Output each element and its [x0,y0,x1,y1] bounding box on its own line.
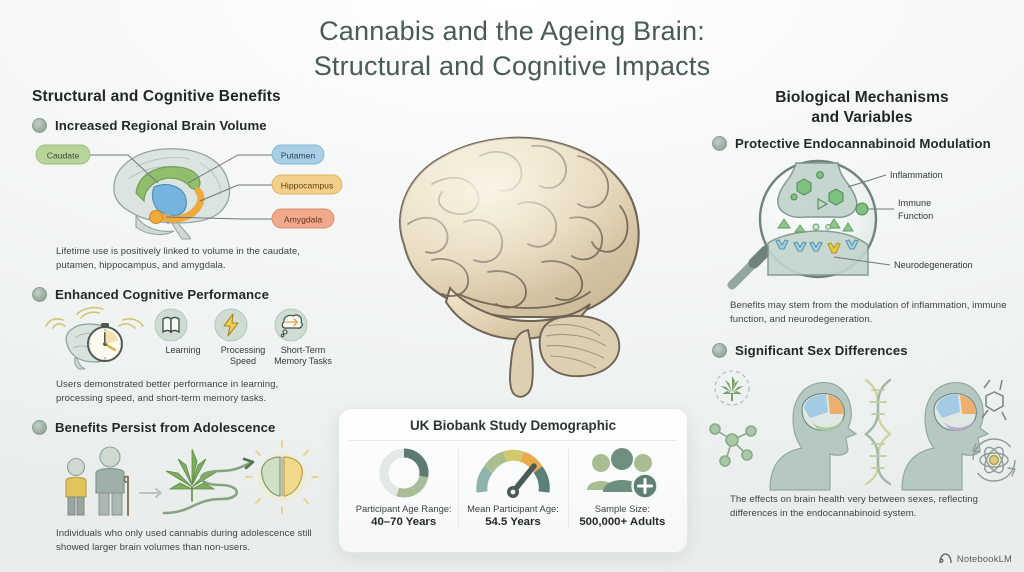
people-group-icon [570,445,675,501]
child-figure [66,458,86,515]
stat-value: 54.5 Years [460,515,565,530]
central-brain-illustration [372,112,658,402]
gauge-icon [460,445,565,501]
atom-cycle-icon [973,439,1015,481]
footer-brand-label: NotebookLM [957,553,1012,564]
callout-immune-function-line1: Immune [898,198,931,208]
brain-stopwatch-illustration [42,308,152,370]
chemical-structure-icon [982,380,1006,420]
callout-inflammation: Inflammation [890,170,943,180]
stat-mean-participant-age: Mean Participant Age: 54.5 Years [458,445,567,530]
region-label-putamen: Putamen [272,145,324,164]
stat-participant-age-range: Participant Age Range: 40–70 Years [349,445,458,530]
donut-chart-icon [351,445,456,501]
stat-key: Mean Participant Age: [460,503,565,515]
region-label-amygdala: Amygdala [272,209,334,228]
cognitive-icon-row: Learning Processing Speed [42,308,332,370]
cognitive-icon-learning: Learning [154,308,212,356]
region-label-hippocampus: Hippocampus [272,175,342,194]
region-label-text: Amygdala [284,215,322,225]
callout-immune-function-line2: Function [898,211,933,221]
older-adult-figure [96,447,128,515]
notebooklm-logo-icon [939,553,952,564]
male-head-silhouette [770,383,856,490]
section-caption: Lifetime use is positively linked to vol… [56,245,318,273]
left-column: Structural and Cognitive Benefits Increa… [32,88,332,568]
section-label: Benefits Persist from Adolescence [55,420,275,435]
bullet-row: Protective Endocannabinoid Modulation [712,136,1012,151]
section-caption: Benefits may stem from the modulation of… [730,299,1008,327]
female-head-silhouette [902,383,988,490]
region-label-text: Caudate [47,151,80,161]
cannabis-leaf-icon [166,449,218,501]
synapse-magnifier-diagram: Inflammation Immune Function Neurodegene… [708,157,1012,297]
section-significant-sex-differences: Significant Sex Differences [712,343,1012,521]
page-title: Cannabis and the Ageing Brain: Structura… [0,14,1024,83]
cognitive-icon-caption: Short-Term Memory Tasks [274,345,332,367]
section-increased-regional-brain-volume: Increased Regional Brain Volume [32,118,332,273]
section-protective-endocannabinoid-modulation: Protective Endocannabinoid Modulation [712,136,1012,327]
stat-sample-size: Sample Size: 500,000+ Adults [568,445,677,530]
sex-differences-illustration [706,364,1012,490]
page-title-line2: Structural and Cognitive Impacts [0,49,1024,84]
section-caption: The effects on brain health very between… [730,493,1008,521]
region-label-text: Putamen [281,151,316,161]
section-enhanced-cognitive-performance: Enhanced Cognitive Performance [32,287,332,406]
infographic-canvas: Cannabis and the Ageing Brain: Structura… [0,0,1024,572]
left-column-heading: Structural and Cognitive Benefits [32,88,332,106]
cognitive-icon-caption: Processing Speed [214,345,272,367]
section-label: Significant Sex Differences [735,343,908,358]
callout-neurodegeneration: Neurodegeneration [894,260,973,270]
right-column-heading: Biological Mechanisms and Variables [712,88,1012,128]
bullet-row: Benefits Persist from Adolescence [32,420,332,435]
section-benefits-persist-from-adolescence: Benefits Persist from Adolescence [32,420,332,555]
section-caption: Users demonstrated better performance in… [56,378,318,406]
dna-helix-icon [866,380,890,484]
stat-card-stats: Participant Age Range: 40–70 Years [349,445,677,530]
stat-card: UK Biobank Study Demographic Participant… [338,408,688,553]
stat-card-title: UK Biobank Study Demographic [349,418,677,441]
bullet-dot-icon [32,287,47,302]
stat-key: Participant Age Range: [351,503,456,515]
stat-value: 40–70 Years [351,515,456,530]
bullet-dot-icon [712,136,727,151]
glowing-brain-icon [246,441,318,513]
bullet-row: Significant Sex Differences [712,343,1012,358]
section-label: Increased Regional Brain Volume [55,118,267,133]
right-column: Biological Mechanisms and Variables Prot… [712,88,1012,535]
right-column-heading-line2: and Variables [811,109,912,126]
bullet-row: Increased Regional Brain Volume [32,118,332,133]
region-label-caudate: Caudate [36,145,90,164]
section-caption: Individuals who only used cannabis durin… [56,527,318,555]
bullet-dot-icon [712,343,727,358]
molecule-icon [710,424,756,466]
bullet-dot-icon [32,118,47,133]
cannabis-leaf-badge-icon [715,371,749,405]
adolescence-to-adult-illustration [44,441,332,521]
bullet-row: Enhanced Cognitive Performance [32,287,332,302]
cognitive-icon-caption: Learning [154,345,212,356]
bullet-dot-icon [32,420,47,435]
subcortical-brain-diagram: Caudate Putamen Hippocampus Amygdala [32,139,332,239]
page-title-line1: Cannabis and the Ageing Brain: [319,16,705,46]
section-label: Enhanced Cognitive Performance [55,287,269,302]
stat-key: Sample Size: [570,503,675,515]
section-label: Protective Endocannabinoid Modulation [735,136,991,151]
footer-brand: NotebookLM [939,553,1012,564]
cognitive-icon-processing-speed: Processing Speed [214,308,272,367]
cognitive-icon-short-term-memory: Short-Term Memory Tasks [274,308,332,367]
right-column-heading-line1: Biological Mechanisms [775,89,949,106]
region-label-text: Hippocampus [281,181,334,191]
stat-value: 500,000+ Adults [570,515,675,530]
